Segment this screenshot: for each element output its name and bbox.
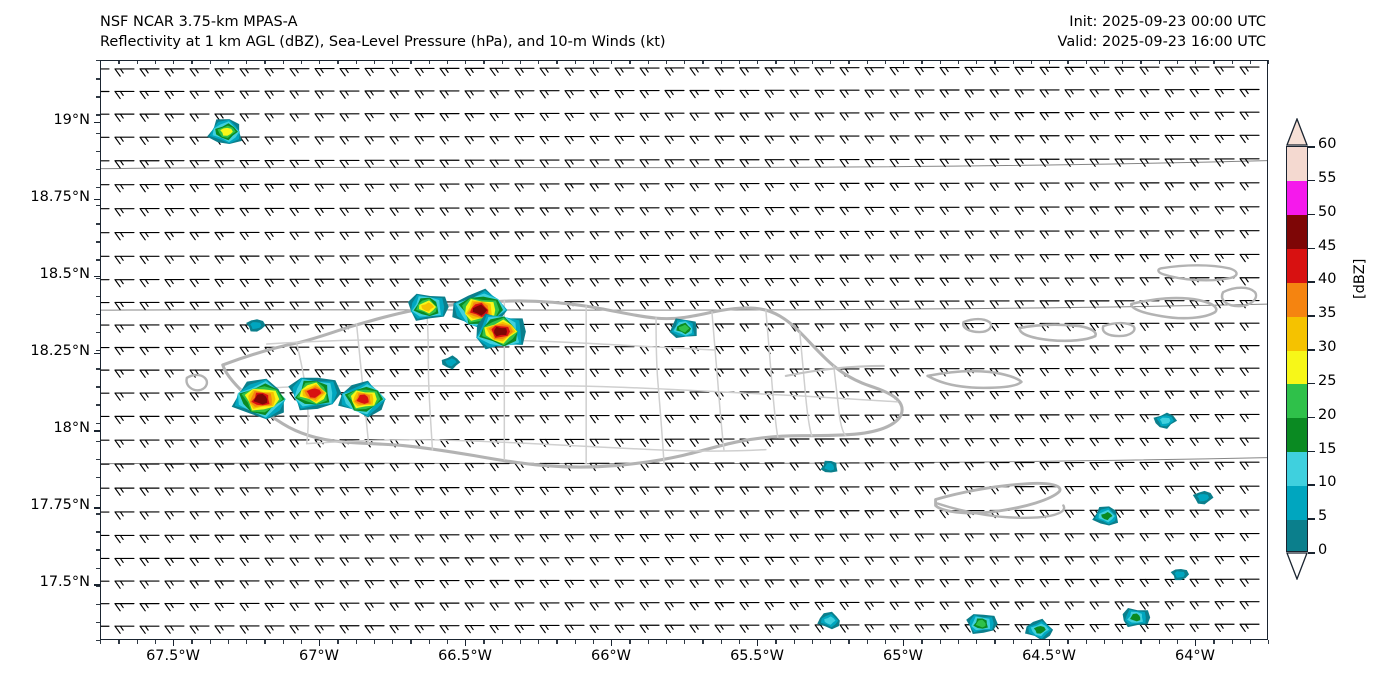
x-minor-tick [283, 640, 284, 644]
x-minor-tick [246, 640, 247, 644]
x-minor-tick [301, 640, 302, 644]
map-plot-frame [100, 60, 1268, 640]
x-minor-tick [593, 640, 594, 644]
colorbar-tick-label: 10 [1318, 474, 1336, 490]
x-minor-tick [666, 640, 667, 644]
y-minor-tick [96, 60, 100, 61]
x-minor-tick [812, 60, 813, 64]
x-minor-tick [1195, 60, 1196, 64]
y-minor-tick [96, 477, 100, 478]
x-minor-tick [1013, 640, 1014, 644]
reflectivity-cell [670, 318, 697, 338]
x-minor-tick [118, 60, 119, 64]
wind-barb-layer [101, 67, 1259, 633]
x-minor-tick [392, 60, 393, 64]
x-minor-tick [684, 640, 685, 644]
x-minor-tick [356, 60, 357, 64]
x-minor-tick [538, 60, 539, 64]
x-minor-tick [173, 60, 174, 64]
reflectivity-cell [1092, 506, 1118, 525]
y-minor-tick [96, 622, 100, 623]
reflectivity-cell [408, 294, 449, 321]
y-minor-tick [96, 386, 100, 387]
x-tick-label: 67°W [259, 648, 379, 664]
vieques-island [928, 371, 1022, 388]
colorbar-axis-label: [dBZ] [1352, 259, 1368, 299]
y-tick-label: 17.75°N [4, 497, 90, 513]
reflectivity-cell [288, 378, 341, 410]
x-minor-tick [1086, 60, 1087, 64]
x-minor-tick [100, 60, 101, 64]
y-minor-tick [96, 495, 100, 496]
x-minor-tick [447, 60, 448, 64]
x-minor-tick [629, 640, 630, 644]
x-minor-tick [1232, 60, 1233, 64]
x-minor-tick [319, 640, 320, 644]
y-minor-tick [96, 549, 100, 550]
x-minor-tick [374, 60, 375, 64]
colorbar-tick-label: 30 [1318, 339, 1336, 355]
x-tick-label: 64°W [1135, 648, 1255, 664]
x-minor-tick [155, 60, 156, 64]
x-minor-tick [629, 60, 630, 64]
y-minor-tick [96, 568, 100, 569]
st-john-island [1103, 323, 1135, 336]
colorbar-tick-label: 15 [1318, 441, 1336, 457]
colorbar-band-50-55 [1287, 181, 1307, 215]
x-minor-tick [1031, 640, 1032, 644]
y-minor-tick [96, 459, 100, 460]
y-minor-tick [96, 586, 100, 587]
x-minor-tick [520, 640, 521, 644]
x-minor-tick [410, 60, 411, 64]
x-minor-tick [483, 640, 484, 644]
colorbar-tick-label: 50 [1318, 204, 1336, 220]
colorbar-tick-mark [1308, 214, 1315, 216]
x-minor-tick [283, 60, 284, 64]
x-tick-label: 65.5°W [697, 648, 817, 664]
x-minor-tick [1140, 60, 1141, 64]
y-tick-mark [94, 430, 100, 431]
x-minor-tick [1013, 60, 1014, 64]
x-tick-label: 65°W [843, 648, 963, 664]
x-minor-tick [994, 60, 995, 64]
y-minor-tick [96, 151, 100, 152]
x-minor-tick [1232, 640, 1233, 644]
x-minor-tick [556, 60, 557, 64]
reflectivity-cell [232, 379, 286, 420]
x-minor-tick [666, 60, 667, 64]
x-minor-tick [867, 640, 868, 644]
x-minor-tick [1268, 60, 1269, 64]
colorbar-band-40-45 [1287, 249, 1307, 283]
x-tick-label: 66°W [551, 648, 671, 664]
x-minor-tick [210, 640, 211, 644]
x-minor-tick [940, 60, 941, 64]
x-minor-tick [1213, 60, 1214, 64]
x-minor-tick [794, 60, 795, 64]
colorbar-tick-mark [1308, 383, 1315, 385]
x-minor-tick [228, 60, 229, 64]
y-minor-tick [96, 640, 100, 641]
x-minor-tick [264, 60, 265, 64]
reflectivity-cell [966, 614, 997, 634]
y-tick-label: 19°N [4, 112, 90, 128]
x-minor-tick [191, 640, 192, 644]
x-minor-tick [483, 60, 484, 64]
y-minor-tick [96, 96, 100, 97]
x-minor-tick [994, 640, 995, 644]
y-minor-tick [96, 314, 100, 315]
culebra-island [963, 319, 991, 332]
colorbar [1286, 118, 1308, 580]
colorbar-tick-label: 20 [1318, 407, 1336, 423]
reflectivity-cell [246, 319, 266, 331]
colorbar-tick-label: 40 [1318, 271, 1336, 287]
x-minor-tick [794, 640, 795, 644]
x-minor-tick [465, 60, 466, 64]
map-canvas [101, 61, 1267, 639]
x-minor-tick [1031, 60, 1032, 64]
x-minor-tick [1195, 640, 1196, 644]
reflectivity-cell [1193, 491, 1214, 504]
colorbar-band-30-35 [1287, 316, 1307, 350]
x-minor-tick [337, 640, 338, 644]
x-tick-label: 66.5°W [405, 648, 525, 664]
y-minor-tick [96, 368, 100, 369]
reflectivity-cell [1171, 569, 1189, 580]
x-minor-tick [739, 60, 740, 64]
x-minor-tick [702, 640, 703, 644]
reflectivity-cell [1025, 619, 1053, 639]
mona-island [187, 375, 207, 390]
x-minor-tick [575, 640, 576, 644]
colorbar-band-5-10 [1287, 485, 1307, 519]
y-tick-mark [94, 122, 100, 123]
reflectivity-cell [1123, 608, 1151, 627]
figure-root: NSF NCAR 3.75-km MPAS-A Reflectivity at … [0, 0, 1378, 687]
x-minor-tick [1140, 640, 1141, 644]
x-minor-tick [885, 640, 886, 644]
x-minor-tick [775, 60, 776, 64]
x-minor-tick [903, 60, 904, 64]
x-minor-tick [739, 640, 740, 644]
x-minor-tick [848, 60, 849, 64]
x-minor-tick [648, 60, 649, 64]
x-minor-tick [246, 60, 247, 64]
y-minor-tick [96, 205, 100, 206]
x-minor-tick [976, 640, 977, 644]
x-minor-tick [721, 640, 722, 644]
y-minor-tick [96, 259, 100, 260]
x-minor-tick [1159, 60, 1160, 64]
x-minor-tick [940, 640, 941, 644]
x-minor-tick [173, 640, 174, 644]
y-minor-tick [96, 78, 100, 79]
colorbar-band-0-5 [1287, 519, 1307, 552]
x-minor-tick [903, 640, 904, 644]
x-minor-tick [264, 640, 265, 644]
virgin-gorda-island [1222, 288, 1256, 306]
x-minor-tick [976, 60, 977, 64]
x-minor-tick [538, 640, 539, 644]
x-minor-tick [1250, 60, 1251, 64]
y-minor-tick [96, 423, 100, 424]
colorbar-gradient [1286, 146, 1308, 552]
x-minor-tick [830, 60, 831, 64]
x-tick-label: 67.5°W [113, 648, 233, 664]
colorbar-tick-mark [1308, 451, 1315, 453]
init-time-line: Init: 2025-09-23 00:00 UTC [1058, 12, 1266, 32]
colorbar-band-10-15 [1287, 452, 1307, 486]
y-minor-tick [96, 332, 100, 333]
x-minor-tick [137, 640, 138, 644]
x-minor-tick [1049, 60, 1050, 64]
x-minor-tick [301, 60, 302, 64]
y-minor-tick [96, 404, 100, 405]
x-minor-tick [1122, 640, 1123, 644]
x-minor-tick [702, 60, 703, 64]
x-minor-tick [410, 640, 411, 644]
x-minor-tick [757, 640, 758, 644]
x-minor-tick [921, 640, 922, 644]
x-minor-tick [374, 640, 375, 644]
colorbar-tick-mark [1308, 484, 1315, 486]
y-minor-tick [96, 241, 100, 242]
y-tick-label: 18°N [4, 420, 90, 436]
x-minor-tick [1177, 60, 1178, 64]
x-minor-tick [575, 60, 576, 64]
x-minor-tick [520, 60, 521, 64]
colorbar-tick-mark [1308, 552, 1315, 554]
x-minor-tick [648, 640, 649, 644]
x-minor-tick [1268, 640, 1269, 644]
x-minor-tick [429, 640, 430, 644]
colorbar-tick-mark [1308, 315, 1315, 317]
x-minor-tick [1049, 640, 1050, 644]
x-minor-tick [137, 60, 138, 64]
x-minor-tick [921, 60, 922, 64]
colorbar-band-25-30 [1287, 350, 1307, 384]
x-minor-tick [848, 640, 849, 644]
y-minor-tick [96, 114, 100, 115]
colorbar-band-35-40 [1287, 282, 1307, 316]
colorbar-tick-mark [1308, 248, 1315, 250]
colorbar-tick-mark [1308, 281, 1315, 283]
x-minor-tick [885, 60, 886, 64]
y-tick-label: 17.5°N [4, 574, 90, 590]
reflectivity-cell [817, 612, 840, 630]
x-minor-tick [356, 640, 357, 644]
x-minor-tick [812, 640, 813, 644]
y-minor-tick [96, 223, 100, 224]
x-minor-tick [611, 60, 612, 64]
y-minor-tick [96, 604, 100, 605]
valid-time-line: Valid: 2025-09-23 16:00 UTC [1058, 32, 1266, 52]
st-thomas-island [1019, 325, 1095, 341]
x-minor-tick [319, 60, 320, 64]
colorbar-band-15-20 [1287, 418, 1307, 452]
reflectivity-cell [207, 119, 242, 144]
y-minor-tick [96, 531, 100, 532]
y-minor-tick [96, 441, 100, 442]
x-minor-tick [1213, 640, 1214, 644]
x-minor-tick [502, 640, 503, 644]
x-minor-tick [775, 640, 776, 644]
colorbar-tick-mark [1308, 146, 1315, 148]
colorbar-tick-mark [1308, 349, 1315, 351]
y-tick-mark [94, 353, 100, 354]
y-minor-tick [96, 296, 100, 297]
colorbar-tick-label: 0 [1318, 542, 1327, 558]
colorbar-band-45-50 [1287, 215, 1307, 249]
y-tick-label: 18.75°N [4, 189, 90, 205]
x-minor-tick [118, 640, 119, 644]
reflectivity-cell [442, 355, 461, 369]
colorbar-tick-label: 35 [1318, 305, 1336, 321]
map-svg [101, 61, 1267, 639]
y-minor-tick [96, 350, 100, 351]
figure-title-right: Init: 2025-09-23 00:00 UTC Valid: 2025-0… [1058, 12, 1266, 52]
x-minor-tick [1086, 640, 1087, 644]
x-minor-tick [556, 640, 557, 644]
colorbar-over-arrow [1286, 118, 1308, 146]
x-minor-tick [155, 640, 156, 644]
x-minor-tick [502, 60, 503, 64]
x-minor-tick [684, 60, 685, 64]
colorbar-tick-label: 55 [1318, 170, 1336, 186]
y-tick-mark [94, 199, 100, 200]
y-tick-mark [94, 507, 100, 508]
x-minor-tick [100, 640, 101, 644]
colorbar-tick-label: 5 [1318, 508, 1327, 524]
x-minor-tick [1250, 640, 1251, 644]
model-name-line: NSF NCAR 3.75-km MPAS-A [100, 12, 666, 32]
x-minor-tick [1067, 60, 1068, 64]
colorbar-band-20-25 [1287, 384, 1307, 418]
colorbar-tick-label: 60 [1318, 136, 1336, 152]
x-minor-tick [757, 60, 758, 64]
x-minor-tick [191, 60, 192, 64]
y-minor-tick [96, 133, 100, 134]
x-minor-tick [958, 640, 959, 644]
colorbar-tick-mark [1308, 417, 1315, 419]
reflectivity-layer [207, 119, 1213, 639]
x-minor-tick [465, 640, 466, 644]
colorbar-band-55-60 [1287, 147, 1307, 181]
colorbar-under-arrow [1286, 552, 1308, 580]
x-minor-tick [337, 60, 338, 64]
reflectivity-contour-45dbz [494, 327, 507, 336]
x-minor-tick [392, 640, 393, 644]
x-minor-tick [867, 60, 868, 64]
colorbar-tick-mark [1308, 518, 1315, 520]
x-minor-tick [593, 60, 594, 64]
y-minor-tick [96, 513, 100, 514]
y-minor-tick [96, 278, 100, 279]
x-minor-tick [210, 60, 211, 64]
reflectivity-cell [476, 314, 526, 350]
x-tick-label: 64.5°W [989, 648, 1109, 664]
field-description-line: Reflectivity at 1 km AGL (dBZ), Sea-Leve… [100, 32, 666, 52]
x-minor-tick [830, 640, 831, 644]
x-minor-tick [1159, 640, 1160, 644]
y-tick-label: 18.25°N [4, 343, 90, 359]
x-minor-tick [721, 60, 722, 64]
x-minor-tick [1067, 640, 1068, 644]
colorbar-tick-mark [1308, 180, 1315, 182]
colorbar-tick-label: 25 [1318, 373, 1336, 389]
x-minor-tick [429, 60, 430, 64]
x-minor-tick [228, 640, 229, 644]
x-minor-tick [1104, 60, 1105, 64]
x-minor-tick [1177, 640, 1178, 644]
wind-barbs [101, 67, 1259, 633]
x-minor-tick [611, 640, 612, 644]
x-minor-tick [958, 60, 959, 64]
figure-title-left: NSF NCAR 3.75-km MPAS-A Reflectivity at … [100, 12, 666, 52]
y-minor-tick [96, 169, 100, 170]
x-minor-tick [1104, 640, 1105, 644]
colorbar-tick-label: 45 [1318, 238, 1336, 254]
y-minor-tick [96, 187, 100, 188]
x-minor-tick [1122, 60, 1123, 64]
y-tick-label: 18.5°N [4, 266, 90, 282]
x-minor-tick [447, 640, 448, 644]
